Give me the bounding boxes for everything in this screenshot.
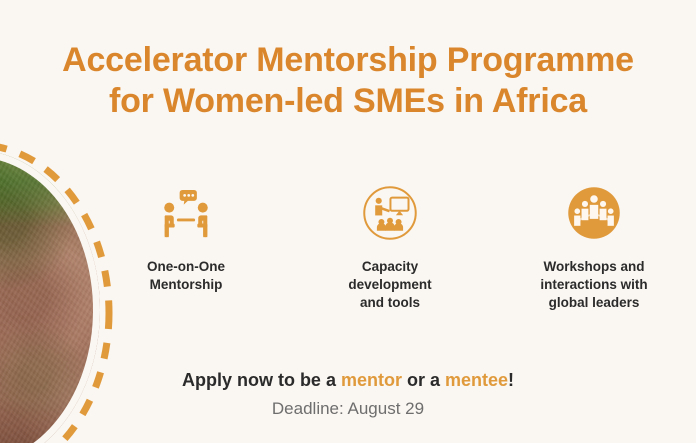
- headline-line-2: for Women-led SMEs in Africa: [0, 81, 696, 122]
- cta-suffix: !: [508, 370, 514, 390]
- feature-label-line-2: interactions with: [540, 277, 647, 292]
- feature-label-mentorship: One-on-One Mentorship: [147, 258, 225, 294]
- feature-label-capacity: Capacity development and tools: [348, 258, 431, 313]
- cta-middle: or a: [402, 370, 445, 390]
- poster-canvas: ts Accelerator Mentorship Programme for …: [0, 0, 696, 443]
- cta-mentor-highlight: mentor: [341, 370, 402, 390]
- cta-mentee-highlight: mentee: [445, 370, 508, 390]
- page-title: Accelerator Mentorship Programme for Wom…: [0, 40, 696, 123]
- feature-label-line-2: Mentorship: [150, 277, 223, 292]
- feature-label-line-1: One-on-One: [147, 259, 225, 274]
- feature-item-workshops: Workshops and interactions with global l…: [508, 182, 680, 313]
- feature-label-line-2: development: [348, 277, 431, 292]
- call-to-action: Apply now to be a mentor or a mentee!: [0, 370, 696, 391]
- feature-label-workshops: Workshops and interactions with global l…: [540, 258, 647, 313]
- feature-label-line-1: Capacity: [362, 259, 418, 274]
- deadline-text: Deadline: August 29: [0, 399, 696, 419]
- two-people-at-table-icon: [157, 182, 215, 244]
- cta-prefix: Apply now to be a: [182, 370, 341, 390]
- feature-item-capacity: Capacity development and tools: [304, 182, 476, 313]
- feature-item-mentorship: One-on-One Mentorship: [100, 182, 272, 294]
- group-of-leaders-icon: [566, 182, 622, 244]
- feature-label-line-1: Workshops and: [543, 259, 644, 274]
- feature-label-line-3: and tools: [360, 295, 420, 310]
- presentation-training-icon: [362, 182, 418, 244]
- headline-line-1: Accelerator Mentorship Programme: [62, 41, 634, 79]
- feature-label-line-3: global leaders: [549, 295, 640, 310]
- feature-list: One-on-One Mentorship: [100, 182, 680, 313]
- dashed-arc-decoration: [0, 140, 116, 443]
